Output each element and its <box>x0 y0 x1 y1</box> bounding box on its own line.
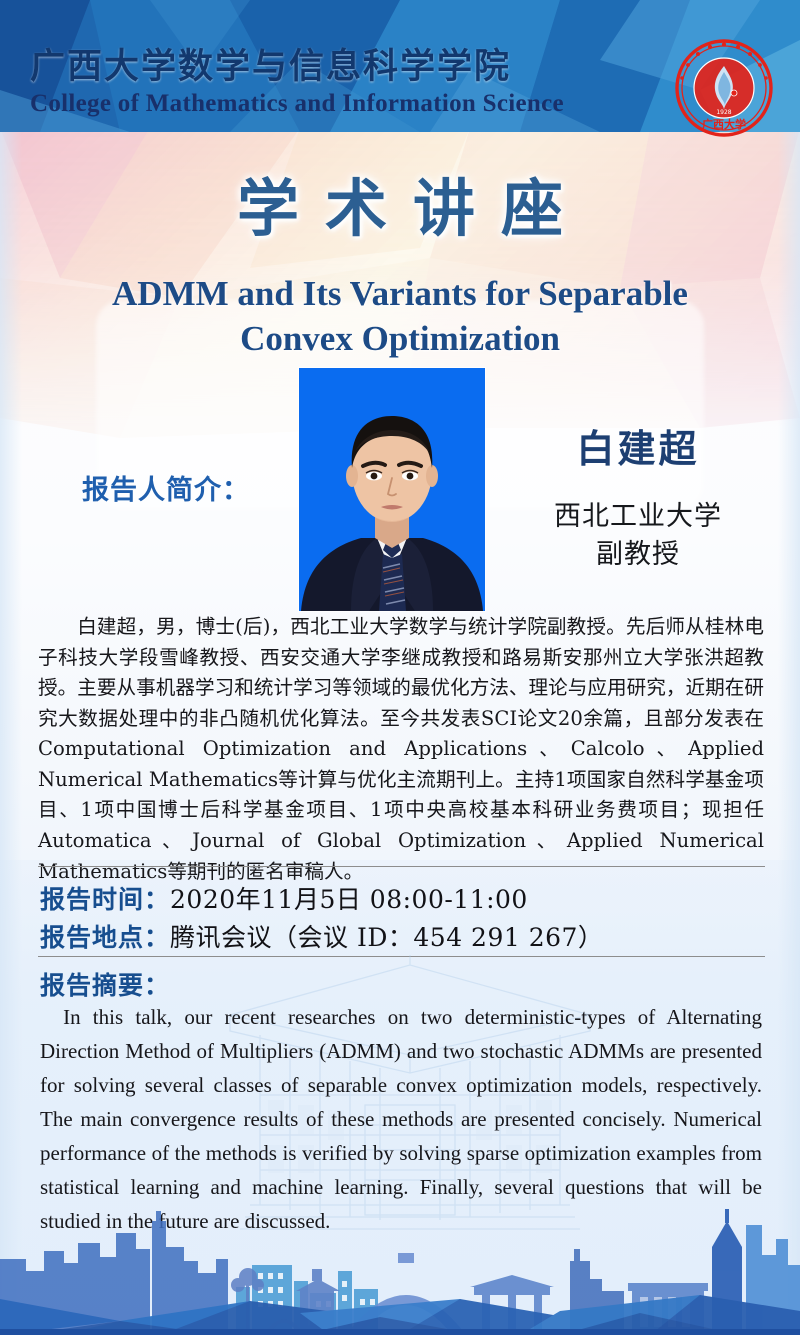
university-seal-icon: 广西大学 1928 <box>672 36 776 140</box>
background-right-strip <box>778 132 800 1335</box>
divider-above-details <box>38 866 765 867</box>
lecture-banner-title: 学术讲座 <box>0 158 800 248</box>
talk-place-label: 报告地点： <box>40 923 170 952</box>
talk-time-value: 2020年11月5日 08:00-11:00 <box>170 885 528 914</box>
talk-place-value: 腾讯会议（会议 ID：454 291 267） <box>170 923 603 952</box>
speaker-title: 副教授 <box>498 536 778 574</box>
talk-place-row: 报告地点：腾讯会议（会议 ID：454 291 267） <box>40 918 603 954</box>
svg-text:1928: 1928 <box>716 109 731 116</box>
speaker-biography: 白建超，男，博士(后)，西北工业大学数学与统计学院副教授。先后师从桂林电子科技大… <box>38 612 764 887</box>
speaker-organization: 西北工业大学 <box>498 498 778 536</box>
college-name-en: College of Mathematics and Information S… <box>30 89 650 119</box>
talk-title: ADMM and Its Variants for Separable Conv… <box>60 272 740 362</box>
svg-text:广西大学: 广西大学 <box>702 117 746 131</box>
talk-time-label: 报告时间： <box>40 885 170 914</box>
abstract-label: 报告摘要： <box>40 966 170 1002</box>
college-name-cn: 广西大学数学与信息科学学院 <box>30 47 650 87</box>
poster-canvas: 广西大学数学与信息科学学院 College of Mathematics and… <box>0 0 800 1335</box>
speaker-name: 白建超 <box>498 418 778 473</box>
speaker-portrait <box>299 368 485 611</box>
speaker-bio-label: 报告人简介： <box>82 468 250 507</box>
background-left-strip <box>0 132 22 1335</box>
speaker-affiliation: 西北工业大学 副教授 <box>498 498 778 575</box>
city-skyline-graphic <box>0 1203 800 1335</box>
talk-time-row: 报告时间：2020年11月5日 08:00-11:00 <box>40 880 528 916</box>
header-titles: 广西大学数学与信息科学学院 College of Mathematics and… <box>30 47 650 119</box>
